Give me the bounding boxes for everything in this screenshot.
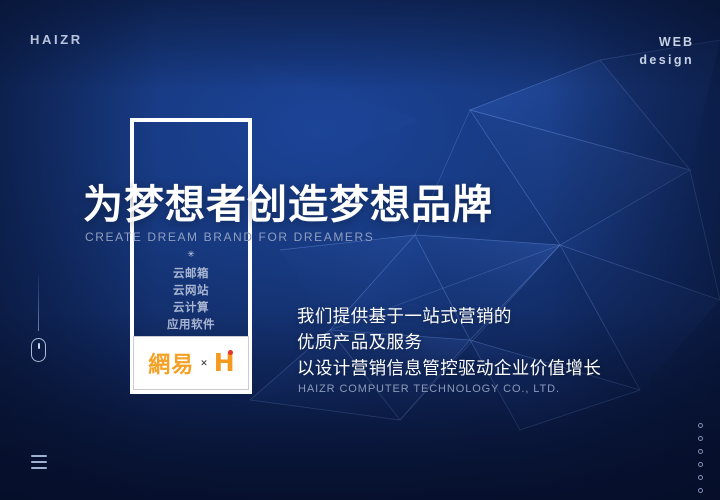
body-line-3: 以设计营销信息管控驱动企业价值增长 bbox=[297, 355, 601, 381]
frame-bottom-border bbox=[130, 390, 252, 394]
hero-slide: HAIZR WEB design ✳ 云邮箱 云网站 云计算 应用软件 为梦想者… bbox=[0, 0, 720, 500]
scroll-rail-line bbox=[38, 275, 39, 331]
netease-wordmark: 網易 bbox=[148, 347, 194, 379]
page-title: 为梦想者创造梦想品牌 bbox=[83, 182, 493, 228]
service-item-cloud-website[interactable]: 云网站 bbox=[130, 283, 252, 300]
service-item-application-software[interactable]: 应用软件 bbox=[130, 317, 252, 334]
body-line-2: 优质产品及服务 bbox=[297, 329, 601, 355]
hamburger-menu-icon[interactable] bbox=[31, 455, 47, 469]
body-line-1: 我们提供基于一站式营销的 bbox=[297, 303, 601, 329]
service-list: 云邮箱 云网站 云计算 应用软件 bbox=[130, 266, 252, 334]
partner-logo-box: 網易 ✕ H bbox=[133, 336, 249, 390]
pagination-dot[interactable] bbox=[698, 449, 703, 454]
pagination-dots[interactable] bbox=[698, 423, 703, 500]
body-copy: 我们提供基于一站式营销的 优质产品及服务 以设计营销信息管控驱动企业价值增长 bbox=[297, 303, 601, 381]
frame-top-border bbox=[130, 118, 252, 122]
cross-separator-icon: ✕ bbox=[200, 358, 208, 369]
asterisk-icon: ✳ bbox=[130, 250, 252, 259]
mouse-wheel-dot bbox=[38, 343, 40, 349]
mouse-scroll-icon[interactable] bbox=[31, 338, 46, 362]
red-dot-icon bbox=[228, 350, 233, 355]
brand-logo-text: HAIZR bbox=[30, 32, 83, 47]
company-legal-name: HAIZR COMPUTER TECHNOLOGY CO., LTD. bbox=[298, 383, 560, 395]
top-right-line1: WEB bbox=[639, 33, 694, 51]
service-item-cloud-computing[interactable]: 云计算 bbox=[130, 300, 252, 317]
hamburger-line-2 bbox=[31, 461, 47, 463]
pagination-dot[interactable] bbox=[698, 475, 703, 480]
hamburger-line-3 bbox=[31, 467, 47, 469]
top-right-label: WEB design bbox=[639, 33, 694, 69]
hamburger-line-1 bbox=[31, 455, 47, 457]
pagination-dot[interactable] bbox=[698, 436, 703, 441]
page-subtitle: CREATE DREAM BRAND FOR DREAMERS bbox=[85, 230, 374, 244]
pagination-dot[interactable] bbox=[698, 423, 703, 428]
polygonal-background-decoration bbox=[0, 0, 720, 500]
service-item-cloud-mail[interactable]: 云邮箱 bbox=[130, 266, 252, 283]
pagination-dot[interactable] bbox=[698, 488, 703, 493]
top-right-line2: design bbox=[639, 51, 694, 69]
pagination-dot[interactable] bbox=[698, 462, 703, 467]
haizr-h-logo: H bbox=[214, 350, 234, 376]
